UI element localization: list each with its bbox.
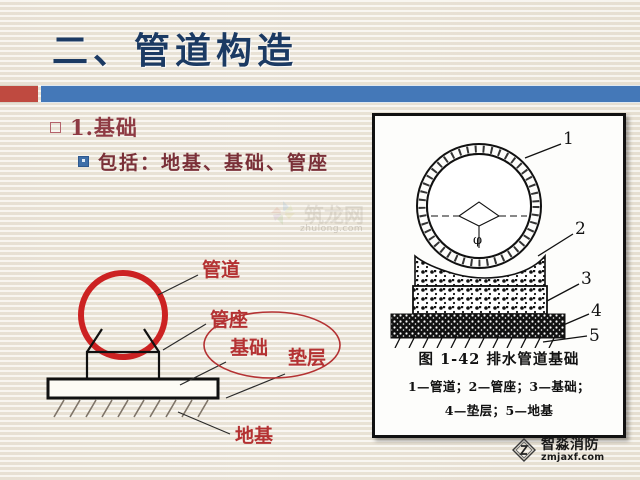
sketch-label-cushion: 垫层 — [288, 347, 326, 369]
bullet-item-1: 1.基础 — [50, 112, 138, 142]
figure-callout-numbers: 1 2 3 4 5 — [563, 129, 602, 346]
divider-accent-red — [0, 85, 38, 103]
diameter-symbol-label: φ — [473, 233, 482, 248]
callout-4: 4 — [591, 301, 602, 321]
diamond-logo-icon — [512, 438, 536, 462]
figure-frame: φ 1 2 3 4 5 图 1-42 排水管道基础 1—管道；2—管座；3—基础… — [372, 113, 626, 438]
concrete-foundation-layer — [413, 286, 547, 314]
figure-caption-title: 图 1-42 排水管道基础 — [375, 348, 623, 369]
bullet-item-2: 包括：地基、基础、管座 — [78, 148, 329, 175]
sketch-label-pipe: 管道 — [202, 258, 240, 281]
callout-1: 1 — [563, 129, 574, 149]
brand-url: zmjaxf.com — [541, 453, 605, 463]
watermark-url: zhulong.com — [300, 224, 363, 234]
brand-logo-text: 智淼消防 zmjaxf.com — [541, 438, 605, 463]
sketch-label-subgrade: 地基 — [235, 424, 274, 447]
filled-square-bullet-icon — [78, 156, 89, 167]
pinwheel-icon — [268, 198, 298, 228]
callout-3: 3 — [581, 269, 592, 289]
figure-legend-line-2: 4—垫层；5—地基 — [375, 400, 623, 419]
sketch-label-foundation: 基础 — [229, 336, 268, 359]
figure-caption: 图 1-42 排水管道基础 1—管道；2—管座；3—基础； 4—垫层；5—地基 — [375, 348, 623, 419]
callout-2: 2 — [575, 219, 586, 239]
brand-logo: 智淼消防 zmjaxf.com — [512, 438, 605, 463]
pipe-circle-shape — [81, 273, 165, 357]
gravel-cushion-layer — [391, 314, 565, 338]
foundation-slab — [48, 379, 218, 398]
brand-name: 智淼消防 — [541, 438, 605, 453]
divider-bar-blue — [41, 85, 640, 103]
bullet-item-1-label: 1.基础 — [70, 112, 138, 142]
page-title: 二、管道构造 — [52, 22, 298, 74]
pipe-foundation-sketch: 管道 管座 基础 垫层 地基 — [30, 250, 370, 460]
hollow-square-bullet-icon — [50, 122, 61, 133]
bullet-item-2-label: 包括：地基、基础、管座 — [98, 148, 329, 175]
callout-5: 5 — [589, 326, 600, 346]
figure-legend-line-1: 1—管道；2—管座；3—基础； — [375, 376, 623, 395]
sketch-label-pipe-seat: 管座 — [210, 308, 248, 331]
presentation-slide: 二、管道构造 1.基础 包括：地基、基础、管座 筑龙网 zhulong.com — [0, 0, 640, 480]
drainage-pipe-foundation-drawing: φ 1 2 3 4 5 — [375, 116, 617, 348]
